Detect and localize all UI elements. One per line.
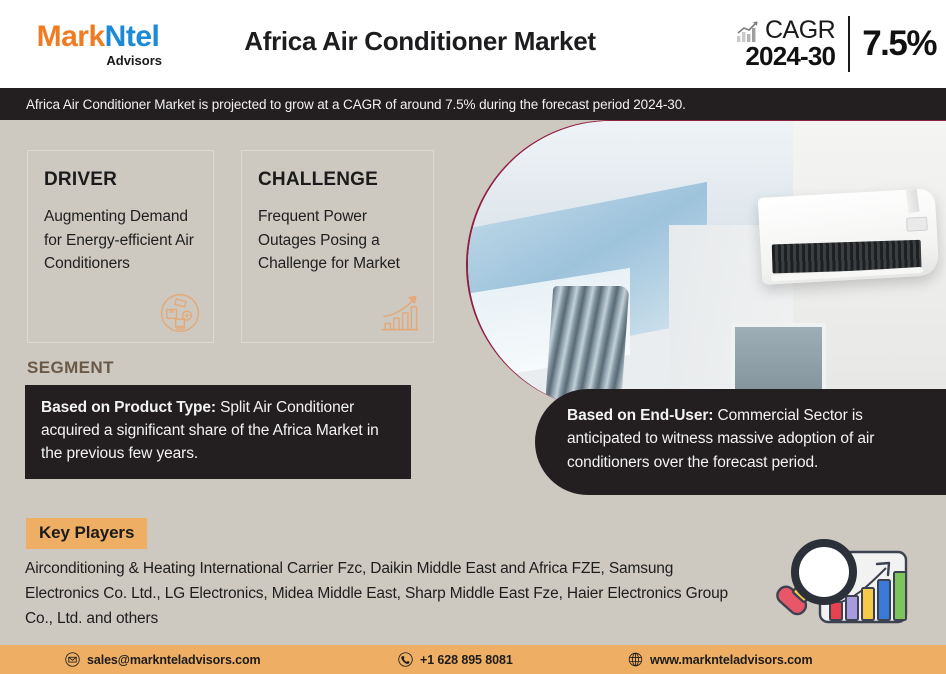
cagr-left: CAGR 2024-30 (736, 18, 848, 70)
logo-mark-text: Mark (37, 20, 105, 53)
segment-product-type-box: Based on Product Type: Split Air Conditi… (25, 385, 411, 479)
footer-website[interactable]: www.marknteladvisors.com (628, 652, 812, 667)
subtitle-banner: Africa Air Conditioner Market is project… (0, 88, 946, 120)
cagr-block: CAGR 2024-30 7.5% (736, 14, 936, 74)
driver-card-body: Augmenting Demand for Energy-efficient A… (44, 205, 197, 276)
footer-phone-text: +1 628 895 8081 (420, 653, 513, 667)
segment-end-user-box: Based on End-User: Commercial Sector is … (535, 389, 946, 495)
segment-label: SEGMENT (27, 358, 114, 378)
segment-end-user-text: Based on End-User: Commercial Sector is … (567, 404, 924, 474)
infographic-page: MarkNtel Advisors Africa Air Conditioner… (0, 0, 946, 674)
challenge-card: CHALLENGE Frequent Power Outages Posing … (241, 150, 434, 343)
supply-chain-circle-icon (159, 292, 201, 334)
logo-wordmark: MarkNtel (28, 22, 168, 52)
footer-bar: sales@marknteladvisors.com +1 628 895 80… (0, 645, 946, 674)
footer-email-text: sales@marknteladvisors.com (87, 653, 261, 667)
header-bar: MarkNtel Advisors Africa Air Conditioner… (0, 0, 946, 88)
envelope-icon (65, 652, 80, 667)
cagr-label-row: CAGR (736, 18, 835, 44)
globe-icon (628, 652, 643, 667)
segment-product-type-bold: Based on Product Type: (41, 399, 216, 416)
key-players-text: Airconditioning & Heating International … (25, 556, 740, 631)
growth-chart-arrow-icon (379, 292, 421, 334)
footer-website-text: www.marknteladvisors.com (650, 653, 812, 667)
challenge-card-title: CHALLENGE (258, 169, 417, 191)
segment-end-user-bold: Based on End-User: (567, 407, 713, 424)
subtitle-text: Africa Air Conditioner Market is project… (0, 97, 686, 112)
challenge-card-body: Frequent Power Outages Posing a Challeng… (258, 205, 417, 276)
logo-ntel-text: Ntel (105, 20, 160, 53)
footer-email[interactable]: sales@marknteladvisors.com (65, 652, 261, 667)
cagr-period: 2024-30 (736, 43, 835, 70)
key-players-badge: Key Players (26, 518, 147, 549)
logo-subtitle: Advisors (28, 54, 168, 67)
driver-card-title: DRIVER (44, 169, 197, 191)
segment-product-type-text: Based on Product Type: Split Air Conditi… (41, 397, 395, 466)
bar-chart-growth-icon (736, 21, 760, 43)
photo-container (466, 120, 946, 410)
phone-icon (398, 652, 413, 667)
air-conditioner-photo (466, 120, 946, 410)
driver-card: DRIVER Augmenting Demand for Energy-effi… (27, 150, 214, 343)
footer-phone[interactable]: +1 628 895 8081 (398, 652, 513, 667)
page-title: Africa Air Conditioner Market (185, 26, 655, 57)
magnifier-bar-chart-icon (768, 530, 928, 635)
company-logo[interactable]: MarkNtel Advisors (28, 22, 168, 67)
cagr-label: CAGR (765, 18, 835, 44)
split-ac-unit (757, 188, 938, 284)
cagr-value: 7.5% (850, 24, 936, 64)
